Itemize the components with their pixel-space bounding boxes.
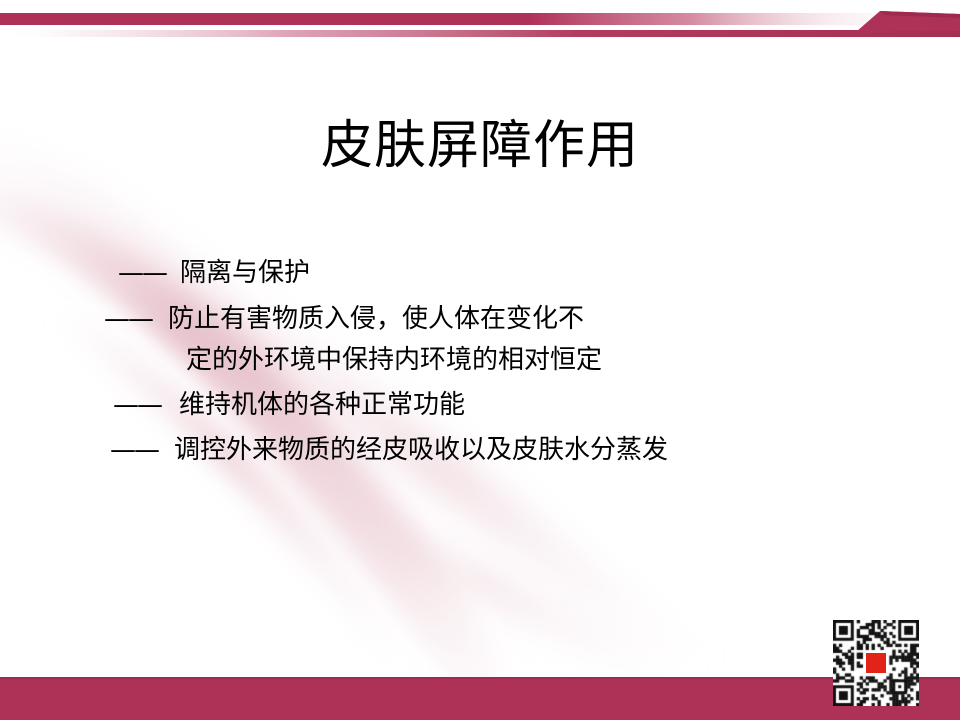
list-item-label: 维持机体的各种正常功能 bbox=[161, 385, 465, 426]
list-item-label: 隔离与保护 bbox=[166, 253, 310, 294]
em-dash-bullet-icon: —— bbox=[113, 385, 161, 426]
list-item: —— 隔离与保护 bbox=[0, 253, 960, 294]
list-item-label: 调控外来物质的经皮吸收以及皮肤水分蒸发 bbox=[158, 430, 668, 471]
list-item-label: 防止有害物质入侵，使人体在变化不 bbox=[152, 299, 584, 340]
em-dash-bullet-icon: —— bbox=[110, 430, 158, 471]
list-item: —— 维持机体的各种正常功能 bbox=[0, 385, 960, 426]
top-accent-bar bbox=[0, 0, 960, 48]
presentation-slide: 皮肤屏障作用 —— 隔离与保护 —— 防止有害物质入侵，使人体在变化不 定的外环… bbox=[0, 0, 960, 720]
page-title: 皮肤屏障作用 bbox=[0, 118, 960, 175]
qr-code-center-logo bbox=[866, 653, 886, 673]
em-dash-bullet-icon: —— bbox=[118, 253, 166, 294]
bullet-list: —— 隔离与保护 —— 防止有害物质入侵，使人体在变化不 定的外环境中保持内环境… bbox=[0, 253, 960, 471]
em-dash-bullet-icon: —— bbox=[104, 299, 152, 340]
qr-code[interactable] bbox=[833, 620, 919, 706]
list-item: —— 防止有害物质入侵，使人体在变化不 bbox=[0, 299, 960, 340]
list-item-continuation: 定的外环境中保持内环境的相对恒定 bbox=[0, 340, 960, 381]
list-item: —— 调控外来物质的经皮吸收以及皮肤水分蒸发 bbox=[0, 430, 960, 471]
bottom-accent-bar bbox=[0, 677, 960, 720]
